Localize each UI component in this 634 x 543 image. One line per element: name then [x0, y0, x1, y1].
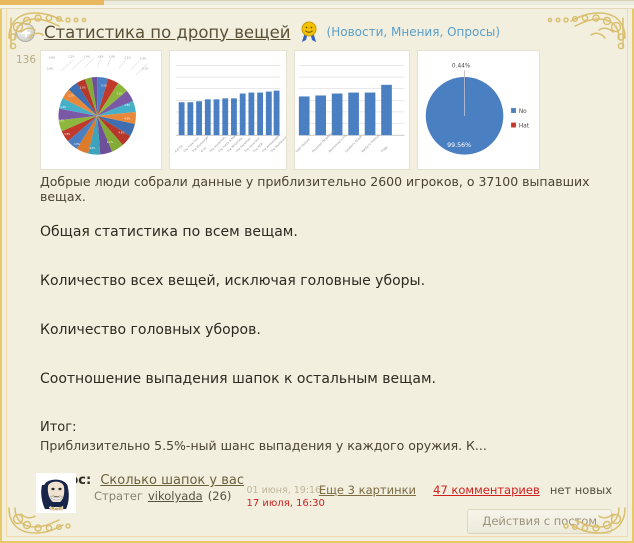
- footer-links-row: Еще 3 картинки 47 комментариев нет новых: [319, 479, 612, 498]
- plus-circle-icon[interactable]: [16, 23, 35, 42]
- thumbnail-chart-bar-items-no-hats[interactable]: Axting The Flare Gun The Blutsauger Krit…: [169, 50, 287, 170]
- post-section-4: Соотношение выпадения шапок к остальным …: [40, 371, 600, 387]
- svg-text:4.0%: 4.0%: [89, 147, 96, 150]
- author-name[interactable]: vikolyada: [148, 489, 203, 503]
- svg-text:1.4%: 1.4%: [84, 55, 91, 59]
- browser-top-strip: [0, 0, 634, 9]
- medal-icon: [300, 21, 318, 43]
- svg-text:5.1%: 5.1%: [117, 92, 124, 95]
- svg-text:3.1%: 3.1%: [142, 66, 149, 70]
- svg-text:2.4%: 2.4%: [140, 57, 147, 61]
- comments-link[interactable]: 47 комментариев: [433, 483, 540, 497]
- post-intro: Добрые люди собрали данные у приблизител…: [40, 174, 600, 204]
- svg-text:3.6%: 3.6%: [58, 120, 65, 123]
- svg-text:0.9%: 0.9%: [49, 56, 56, 60]
- svg-text:Hat: Hat: [519, 123, 530, 129]
- author-post-count: (26): [208, 489, 232, 503]
- svg-text:4.3%: 4.3%: [119, 131, 126, 134]
- post-section-1: Общая статистика по всем вещам.: [40, 224, 600, 240]
- more-pictures-link[interactable]: Еще 3 картинки: [319, 483, 416, 497]
- svg-text:3.0%: 3.0%: [80, 87, 87, 90]
- svg-text:1.6%: 1.6%: [97, 55, 104, 59]
- svg-text:3.4%: 3.4%: [60, 106, 67, 109]
- date-created: 01 июня, 19:16: [246, 485, 324, 497]
- post-number: 136: [16, 54, 36, 66]
- svg-text:3.9%: 3.9%: [74, 143, 81, 146]
- thumbnail-chart-pie-all-items[interactable]: 0.9%1.2%1.4% 1.6%1.8%2.1% 2.4%2.8%3.1%: [40, 50, 162, 170]
- svg-text:0.44%: 0.44%: [452, 63, 471, 69]
- svg-text:4.8%: 4.8%: [124, 104, 131, 107]
- svg-text:2.8%: 2.8%: [47, 66, 54, 70]
- result-text: Приблизительно 5.5%-ный шанс выпадения у…: [40, 437, 600, 455]
- post-actions-button[interactable]: Действия с постом: [467, 509, 612, 534]
- date-updated: 17 июля, 16:30: [246, 497, 324, 511]
- post-title[interactable]: Статистика по дропу вещей: [44, 23, 291, 42]
- svg-text:3.2%: 3.2%: [68, 94, 75, 97]
- svg-text:4.1%: 4.1%: [107, 141, 114, 144]
- thumbnail-chart-pie-hat-ratio[interactable]: 0.44% 99.56% No Hat: [417, 50, 540, 170]
- post-body: Добрые люди собрали данные у приблизител…: [40, 174, 600, 488]
- post-section-3: Количество головных уборов.: [40, 322, 600, 338]
- author-rank: Стратег: [94, 489, 143, 503]
- svg-text:1.8%: 1.8%: [109, 55, 116, 59]
- post-tags[interactable]: (Новости, Мнения, Опросы): [327, 25, 501, 39]
- ornament-corner-top-right: [533, 8, 629, 70]
- footer-actions: Еще 3 картинки 47 комментариев нет новых…: [319, 479, 612, 534]
- svg-text:3.8%: 3.8%: [64, 133, 71, 136]
- svg-text:2.1%: 2.1%: [124, 56, 131, 60]
- user-avatar[interactable]: [36, 473, 76, 513]
- tab-strip-remainder: [104, 0, 634, 5]
- post-container: Статистика по дропу вещей (Новости, Мнен…: [0, 0, 634, 543]
- date-block: 01 июня, 19:16 17 июля, 16:30: [246, 485, 324, 510]
- thumbnail-chart-bar-hats[interactable]: tball Helmet Prussian Pickelhaub Demoman…: [294, 50, 409, 170]
- thumbnail-strip: 0.9%1.2%1.4% 1.6%1.8%2.1% 2.4%2.8%3.1%: [40, 50, 540, 170]
- post-header: Статистика по дропу вещей (Новости, Мнен…: [16, 18, 500, 46]
- result-label: Итог:: [40, 420, 600, 435]
- svg-text:5.5%: 5.5%: [101, 85, 108, 88]
- active-tab-indicator[interactable]: [0, 0, 104, 5]
- author-meta: Стратег vikolyada (26) 01 июня, 19:16 17…: [94, 473, 325, 510]
- svg-text:99.56%: 99.56%: [447, 142, 471, 149]
- post-footer: Стратег vikolyada (26) 01 июня, 19:16 17…: [36, 473, 612, 531]
- comments-state: нет новых: [550, 483, 612, 497]
- svg-text:No: No: [519, 109, 527, 115]
- author-block: Стратег vikolyada (26) 01 июня, 19:16 17…: [36, 473, 325, 513]
- svg-text:4.5%: 4.5%: [124, 118, 131, 121]
- svg-text:1.2%: 1.2%: [68, 55, 75, 59]
- post-section-2: Количество всех вещей, исключая головные…: [40, 273, 600, 289]
